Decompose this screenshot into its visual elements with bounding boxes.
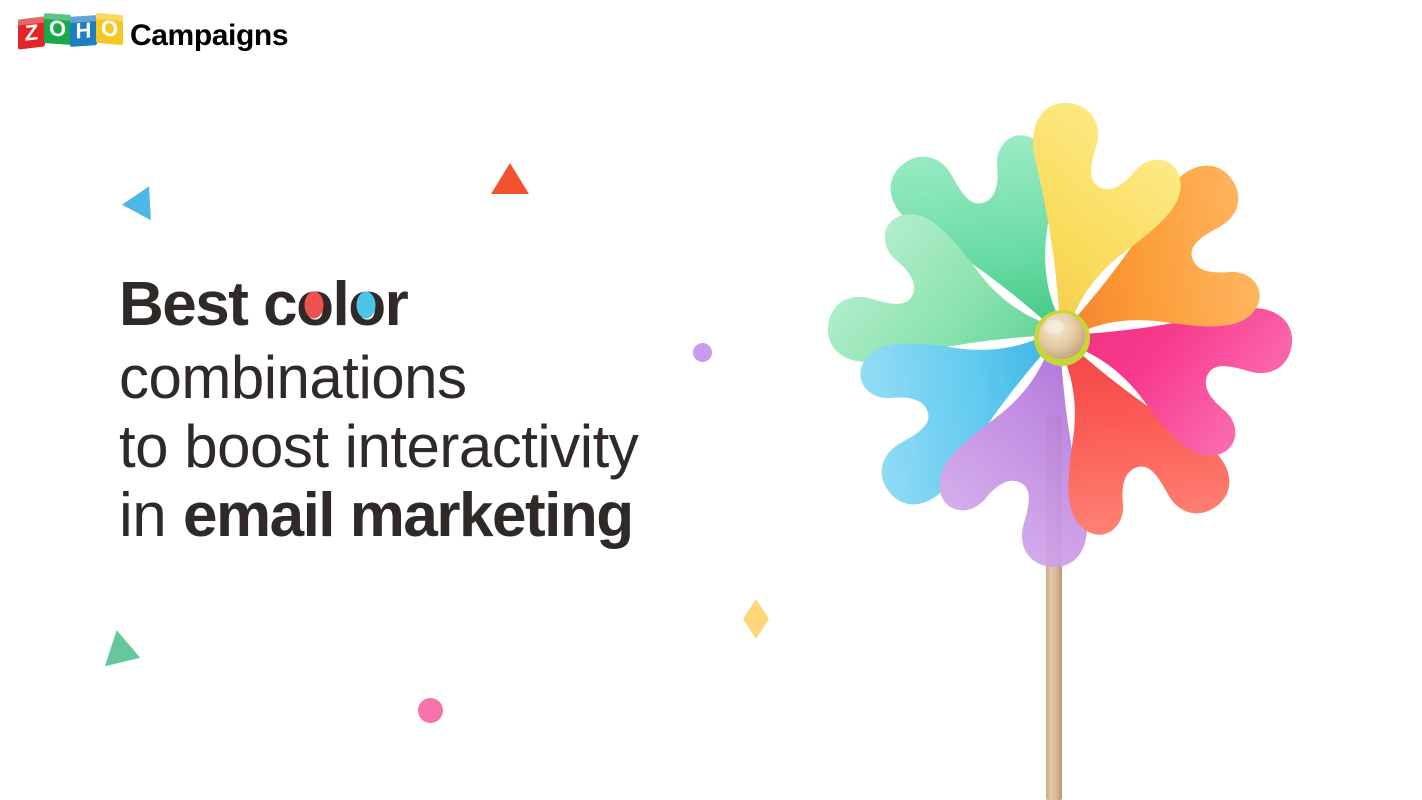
- headline-line-3: to boost interactivity: [119, 418, 638, 475]
- product-name-campaigns: Campaigns: [130, 21, 288, 53]
- headline-o-blue: o: [348, 276, 384, 335]
- diamond-yellow-icon: [743, 599, 769, 639]
- headline-line4-prefix: in: [119, 481, 183, 550]
- zoho-tile-o2: O: [96, 13, 123, 45]
- headline-line1-suffix: r: [385, 270, 408, 339]
- headline-line-4: in email marketing: [119, 487, 638, 546]
- pinwheel-hub: [1034, 310, 1090, 366]
- headline-line4-emphasis: email marketing: [183, 481, 633, 550]
- headline-line1-mid: l: [332, 270, 348, 339]
- dot-purple-icon: [693, 343, 712, 362]
- zoho-tile-o1: O: [44, 13, 71, 45]
- brand-logo[interactable]: Z O H O Campaigns: [18, 15, 288, 59]
- triangle-orange-up-icon: [491, 163, 529, 194]
- zoho-tile-h: H: [70, 15, 97, 47]
- headline-line-1: Best color: [119, 276, 638, 335]
- headline-line-2: combinations: [119, 349, 638, 406]
- pinwheel-photo: [800, 95, 1320, 800]
- dot-pink-icon: [418, 698, 443, 723]
- headline-o-blue-glyph: o: [348, 270, 384, 339]
- poster-canvas: Z O H O Campaigns Best color combination…: [0, 0, 1422, 800]
- triangle-blue-left-icon: [121, 186, 151, 221]
- headline-o-red: o: [296, 276, 332, 335]
- pinwheel-blades: [820, 95, 1300, 575]
- headline-line1-prefix: Best c: [119, 270, 296, 339]
- zoho-logo: Z O H O: [18, 15, 122, 59]
- headline-o-red-glyph: o: [296, 270, 332, 339]
- triangle-green-right-icon: [105, 630, 146, 676]
- zoho-tile-z: Z: [18, 16, 45, 49]
- page-title: Best color combinations to boost interac…: [119, 276, 638, 546]
